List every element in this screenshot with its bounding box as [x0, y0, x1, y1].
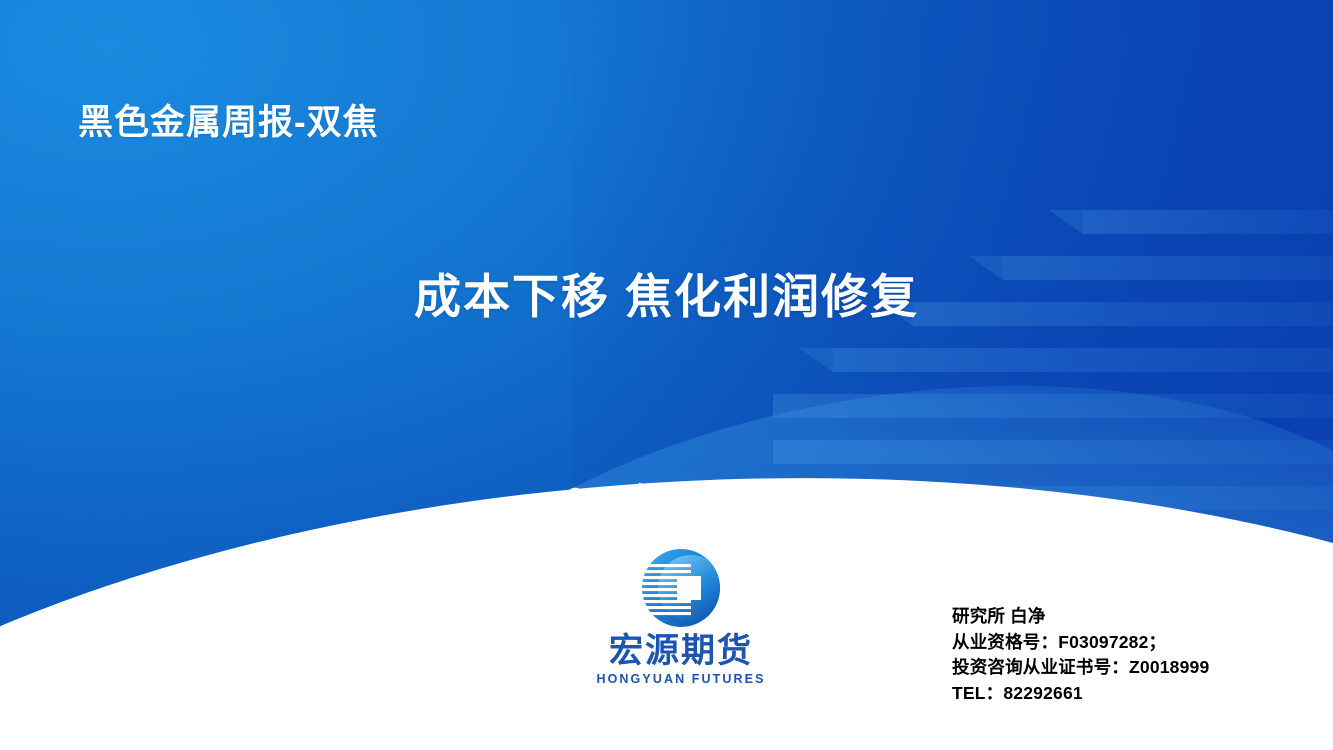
page-title: 成本下移 焦化利润修复: [0, 258, 1333, 327]
analyst-name: 研究所 白净: [952, 604, 1209, 630]
decorative-stripe: [1083, 210, 1333, 234]
analyst-credentials: 研究所 白净 从业资格号：F03097282； 投资咨询从业证书号：Z00189…: [952, 604, 1209, 707]
report-series-title: 黑色金属周报-双焦: [78, 94, 379, 145]
decorative-stripe: [833, 348, 1333, 372]
hongyuan-circle-emblem-icon: [639, 546, 723, 630]
report-date: 2025年12月5日: [0, 476, 1333, 516]
company-name-cn: 宏源期货: [586, 634, 776, 670]
practice-number: 从业资格号：F03097282；: [952, 630, 1209, 656]
telephone: TEL：82292661: [952, 681, 1209, 707]
title-slide: 黑色金属周报-双焦 成本下移 焦化利润修复 2025年12月5日: [0, 0, 1333, 750]
consulting-license: 投资咨询从业证书号：Z0018999: [952, 655, 1209, 681]
company-logo: 宏源期货 HONGYUAN FUTURES: [586, 546, 776, 706]
company-name-en: HONGYUAN FUTURES: [586, 672, 776, 686]
